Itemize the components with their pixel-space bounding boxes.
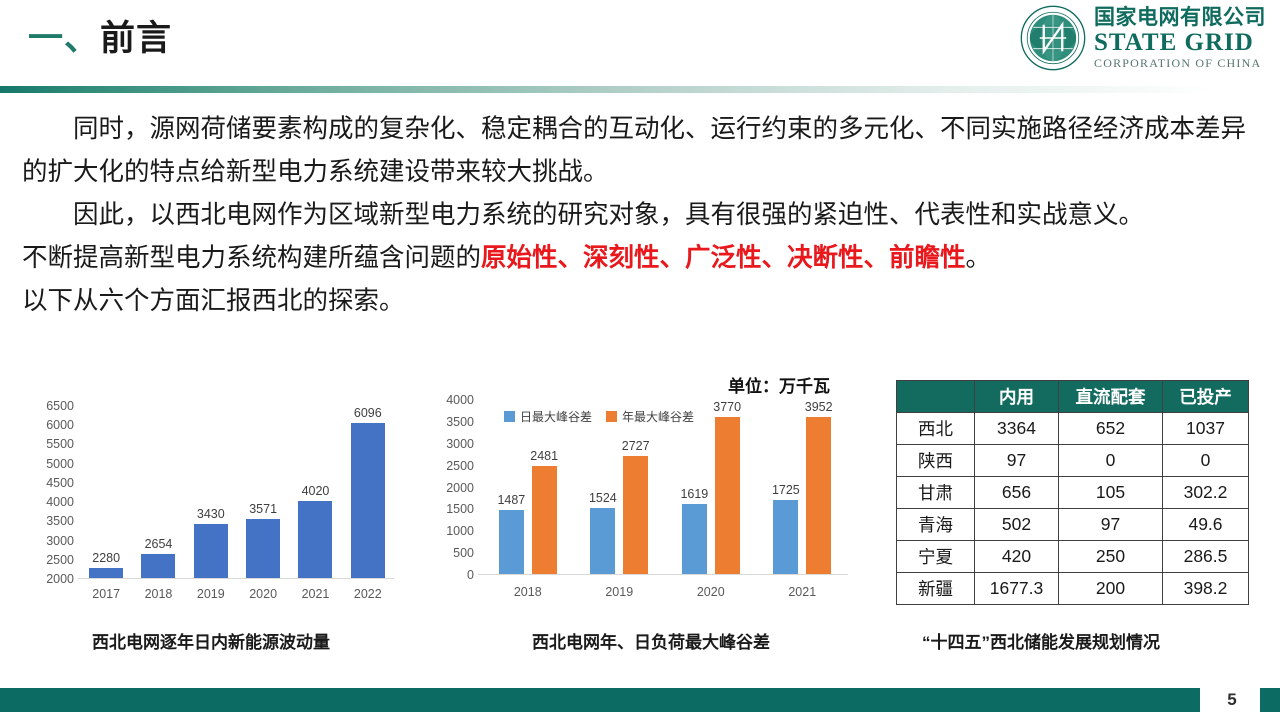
table-row-header: 甘肃 <box>897 477 975 509</box>
chart2-bar-group: 17253952 <box>757 400 849 575</box>
chart1-baseline <box>78 578 394 579</box>
chart2-bar-value: 2481 <box>530 449 558 463</box>
chart1-y-tick: 2500 <box>46 553 74 567</box>
chart2-bar <box>715 417 740 575</box>
footer-bar-end <box>1260 688 1280 712</box>
chart1-bar-column: 3430 <box>185 406 237 579</box>
table-row-header: 新疆 <box>897 573 975 605</box>
page-title-text: 前言 <box>100 10 172 61</box>
figure-captions: 西北电网逐年日内新能源波动量 西北电网年、日负荷最大峰谷差 “十四五”西北储能发… <box>0 628 1280 658</box>
chart1-x-tick: 2018 <box>132 587 184 601</box>
table-row: 陕西9700 <box>897 445 1249 477</box>
table-cell: 302.2 <box>1163 477 1249 509</box>
table-header-cell: 直流配套 <box>1059 381 1163 413</box>
chart2-y-tick: 2500 <box>446 459 474 473</box>
chart1-bar <box>298 501 332 579</box>
paragraph-3-prefix: 不断提高新型电力系统构建所蕴含问题的 <box>22 244 481 272</box>
storage-plan-table-wrap: 内用直流配套已投产 西北33646521037陕西9700甘肃656105302… <box>896 380 1248 605</box>
paragraph-4: 以下从六个方面汇报西北的探索。 <box>22 280 1266 323</box>
chart1-bar <box>351 423 385 579</box>
logo-en-name: STATE GRID <box>1094 30 1266 55</box>
paragraph-1: 同时，源网荷储要素构成的复杂化、稳定耦合的互动化、运行约束的多元化、不同实施路径… <box>22 108 1266 194</box>
chart1-y-tick: 6500 <box>46 399 74 413</box>
chart1-y-tick: 5000 <box>46 457 74 471</box>
table-cell: 652 <box>1059 413 1163 445</box>
table-row: 西北33646521037 <box>897 413 1249 445</box>
chart2-bar-item: 2727 <box>622 400 650 575</box>
chart2-y-tick: 500 <box>453 546 474 560</box>
chart1-x-tick: 2019 <box>185 587 237 601</box>
chart2-y-tick: 0 <box>467 568 474 582</box>
chart1-y-tick: 6000 <box>46 418 74 432</box>
table-cell: 502 <box>975 509 1059 541</box>
table-header-cell: 已投产 <box>1163 381 1249 413</box>
chart1-bar-column: 3571 <box>237 406 289 579</box>
paragraph-2: 因此，以西北电网作为区域新型电力系统的研究对象，具有很强的紧迫性、代表性和实战意… <box>22 194 1266 237</box>
chart1-bar <box>141 554 175 579</box>
table-head: 内用直流配套已投产 <box>897 381 1249 413</box>
table-cell: 200 <box>1059 573 1163 605</box>
chart2-bar-group: 14872481 <box>482 400 574 575</box>
chart2-bar-item: 2481 <box>530 400 558 575</box>
body-text: 同时，源网荷储要素构成的复杂化、稳定耦合的互动化、运行约束的多元化、不同实施路径… <box>22 108 1266 323</box>
chart1-y-tick: 3500 <box>46 514 74 528</box>
chart1-bar-value: 3571 <box>249 502 277 516</box>
table-cell: 105 <box>1059 477 1163 509</box>
table-cell: 398.2 <box>1163 573 1249 605</box>
table-row-header: 宁夏 <box>897 541 975 573</box>
chart2-bar-value: 3952 <box>805 400 833 414</box>
chart2-y-tick: 4000 <box>446 393 474 407</box>
page-title: 一、 前言 <box>28 10 172 61</box>
chart2-plot-area: 14872481152427271619377017253952 <box>482 400 848 575</box>
chart2-bar-item: 1619 <box>680 400 708 575</box>
table-header-cell: 内用 <box>975 381 1059 413</box>
chart1-bar <box>194 524 228 579</box>
table-cell: 97 <box>1059 509 1163 541</box>
table-cell: 420 <box>975 541 1059 573</box>
chart1-y-tick: 5500 <box>46 437 74 451</box>
chart2-y-axis: 40003500300025002000150010005000 <box>424 400 478 575</box>
table-row-header: 青海 <box>897 509 975 541</box>
chart1-y-tick: 3000 <box>46 534 74 548</box>
paragraph-3-highlight: 原始性、深刻性、广泛性、决断性、前瞻性 <box>481 244 966 272</box>
chart2-bar-value: 1725 <box>772 483 800 497</box>
chart2-bar <box>773 500 798 575</box>
chart1-x-tick: 2021 <box>289 587 341 601</box>
chart1-plot-area: 228026543430357140206096 <box>80 406 394 579</box>
page-title-number: 一、 <box>28 10 100 61</box>
chart1-bar <box>246 519 280 579</box>
table-cell: 3364 <box>975 413 1059 445</box>
table-cell: 656 <box>975 477 1059 509</box>
chart2-y-tick: 3000 <box>446 437 474 451</box>
chart2-bar <box>499 510 524 575</box>
chart2-bar-value: 1619 <box>680 487 708 501</box>
chart1-x-tick: 2022 <box>342 587 394 601</box>
chart2-unit-note: 单位：万千瓦 <box>728 372 830 397</box>
chart1-y-tick: 4500 <box>46 476 74 490</box>
chart2-bar-group: 15242727 <box>574 400 666 575</box>
table-cell: 250 <box>1059 541 1163 573</box>
caption-chart2: 西北电网年、日负荷最大峰谷差 <box>532 628 770 653</box>
table-cell: 97 <box>975 445 1059 477</box>
page-number: 5 <box>1214 690 1250 710</box>
chart2-x-tick: 2021 <box>757 585 849 599</box>
storage-plan-table: 内用直流配套已投产 西北33646521037陕西9700甘肃656105302… <box>896 380 1249 605</box>
chart1-bar-value: 2280 <box>92 551 120 565</box>
chart2-y-tick: 3500 <box>446 415 474 429</box>
chart2-bar <box>623 456 648 575</box>
chart2-bar-value: 3770 <box>713 400 741 414</box>
chart1-bar-value: 6096 <box>354 406 382 420</box>
chart2-x-axis: 2018201920202021 <box>482 585 848 599</box>
state-grid-emblem-icon <box>1020 5 1086 71</box>
chart1-y-tick: 2000 <box>46 572 74 586</box>
chart1-bar-column: 2654 <box>132 406 184 579</box>
chart2-y-tick: 2000 <box>446 481 474 495</box>
table-row: 青海5029749.6 <box>897 509 1249 541</box>
chart2-bar-value: 1524 <box>589 491 617 505</box>
chart2-x-tick: 2019 <box>574 585 666 599</box>
chart2-bar-item: 1725 <box>772 400 800 575</box>
chart1-bar-column: 4020 <box>289 406 341 579</box>
chart2-x-tick: 2018 <box>482 585 574 599</box>
chart1-x-tick: 2020 <box>237 587 289 601</box>
table-row: 新疆1677.3200398.2 <box>897 573 1249 605</box>
figure-row: 6500600055005000450040003500300025002000… <box>0 372 1280 662</box>
chart1-x-tick: 2017 <box>80 587 132 601</box>
chart2-bar-value: 1487 <box>497 493 525 507</box>
chart1-bars: 228026543430357140206096 <box>80 406 394 579</box>
chart2-x-tick: 2020 <box>665 585 757 599</box>
table-row-header: 陕西 <box>897 445 975 477</box>
table-header-corner <box>897 381 975 413</box>
table-row-header: 西北 <box>897 413 975 445</box>
table-cell: 1037 <box>1163 413 1249 445</box>
header-divider <box>0 86 1280 93</box>
chart2-bar-item: 3952 <box>805 400 833 575</box>
table-cell: 1677.3 <box>975 573 1059 605</box>
chart2-bar-item: 1487 <box>497 400 525 575</box>
chart2-bar-group: 16193770 <box>665 400 757 575</box>
table-cell: 0 <box>1163 445 1249 477</box>
chart2-bar-groups: 14872481152427271619377017253952 <box>482 400 848 575</box>
logo-en-sub: CORPORATION OF CHINA <box>1094 57 1266 69</box>
chart2-bar <box>532 466 557 575</box>
chart2-bar <box>682 504 707 575</box>
table-row: 宁夏420250286.5 <box>897 541 1249 573</box>
chart2-baseline <box>478 574 848 575</box>
chart1-bar-value: 3430 <box>197 507 225 521</box>
caption-chart1: 西北电网逐年日内新能源波动量 <box>92 628 330 653</box>
logo-cn-name: 国家电网有限公司 <box>1094 7 1266 28</box>
chart1-bar-column: 2280 <box>80 406 132 579</box>
chart-nre-fluctuation: 6500600055005000450040003500300025002000… <box>22 394 402 609</box>
chart2-bar-item: 1524 <box>589 400 617 575</box>
slide: 一、 前言 国家电网有限公司 STATE GRID CORPORATION OF… <box>0 0 1280 720</box>
paragraph-3: 不断提高新型电力系统构建所蕴含问题的原始性、深刻性、广泛性、决断性、前瞻性。 <box>22 237 1266 280</box>
table-cell: 0 <box>1059 445 1163 477</box>
chart1-x-axis: 201720182019202020212022 <box>80 587 394 601</box>
chart2-bar <box>806 417 831 575</box>
footer-bar <box>0 688 1200 712</box>
table-header-row: 内用直流配套已投产 <box>897 381 1249 413</box>
table-cell: 49.6 <box>1163 509 1249 541</box>
chart2-bar <box>590 508 615 575</box>
table-body: 西北33646521037陕西9700甘肃656105302.2青海502974… <box>897 413 1249 605</box>
table-cell: 286.5 <box>1163 541 1249 573</box>
slide-header: 一、 前言 国家电网有限公司 STATE GRID CORPORATION OF… <box>0 0 1280 92</box>
slide-footer: 5 <box>0 686 1280 720</box>
table-row: 甘肃656105302.2 <box>897 477 1249 509</box>
caption-table: “十四五”西北储能发展规划情况 <box>922 628 1160 653</box>
chart1-y-axis: 6500600055005000450040003500300025002000 <box>22 406 78 579</box>
chart2-bar-item: 3770 <box>713 400 741 575</box>
chart-peak-valley-difference: 单位：万千瓦 日最大峰谷差年最大峰谷差 40003500300025002000… <box>424 372 854 609</box>
chart2-bar-value: 2727 <box>622 439 650 453</box>
chart1-bar-value: 4020 <box>302 484 330 498</box>
chart2-y-tick: 1000 <box>446 524 474 538</box>
state-grid-logo: 国家电网有限公司 STATE GRID CORPORATION OF CHINA <box>1020 5 1266 71</box>
paragraph-3-suffix: 。 <box>966 244 992 272</box>
chart2-y-tick: 1500 <box>446 502 474 516</box>
chart1-y-tick: 4000 <box>46 495 74 509</box>
chart1-bar-column: 6096 <box>342 406 394 579</box>
logo-wordmark: 国家电网有限公司 STATE GRID CORPORATION OF CHINA <box>1094 7 1266 69</box>
chart1-bar-value: 2654 <box>145 537 173 551</box>
